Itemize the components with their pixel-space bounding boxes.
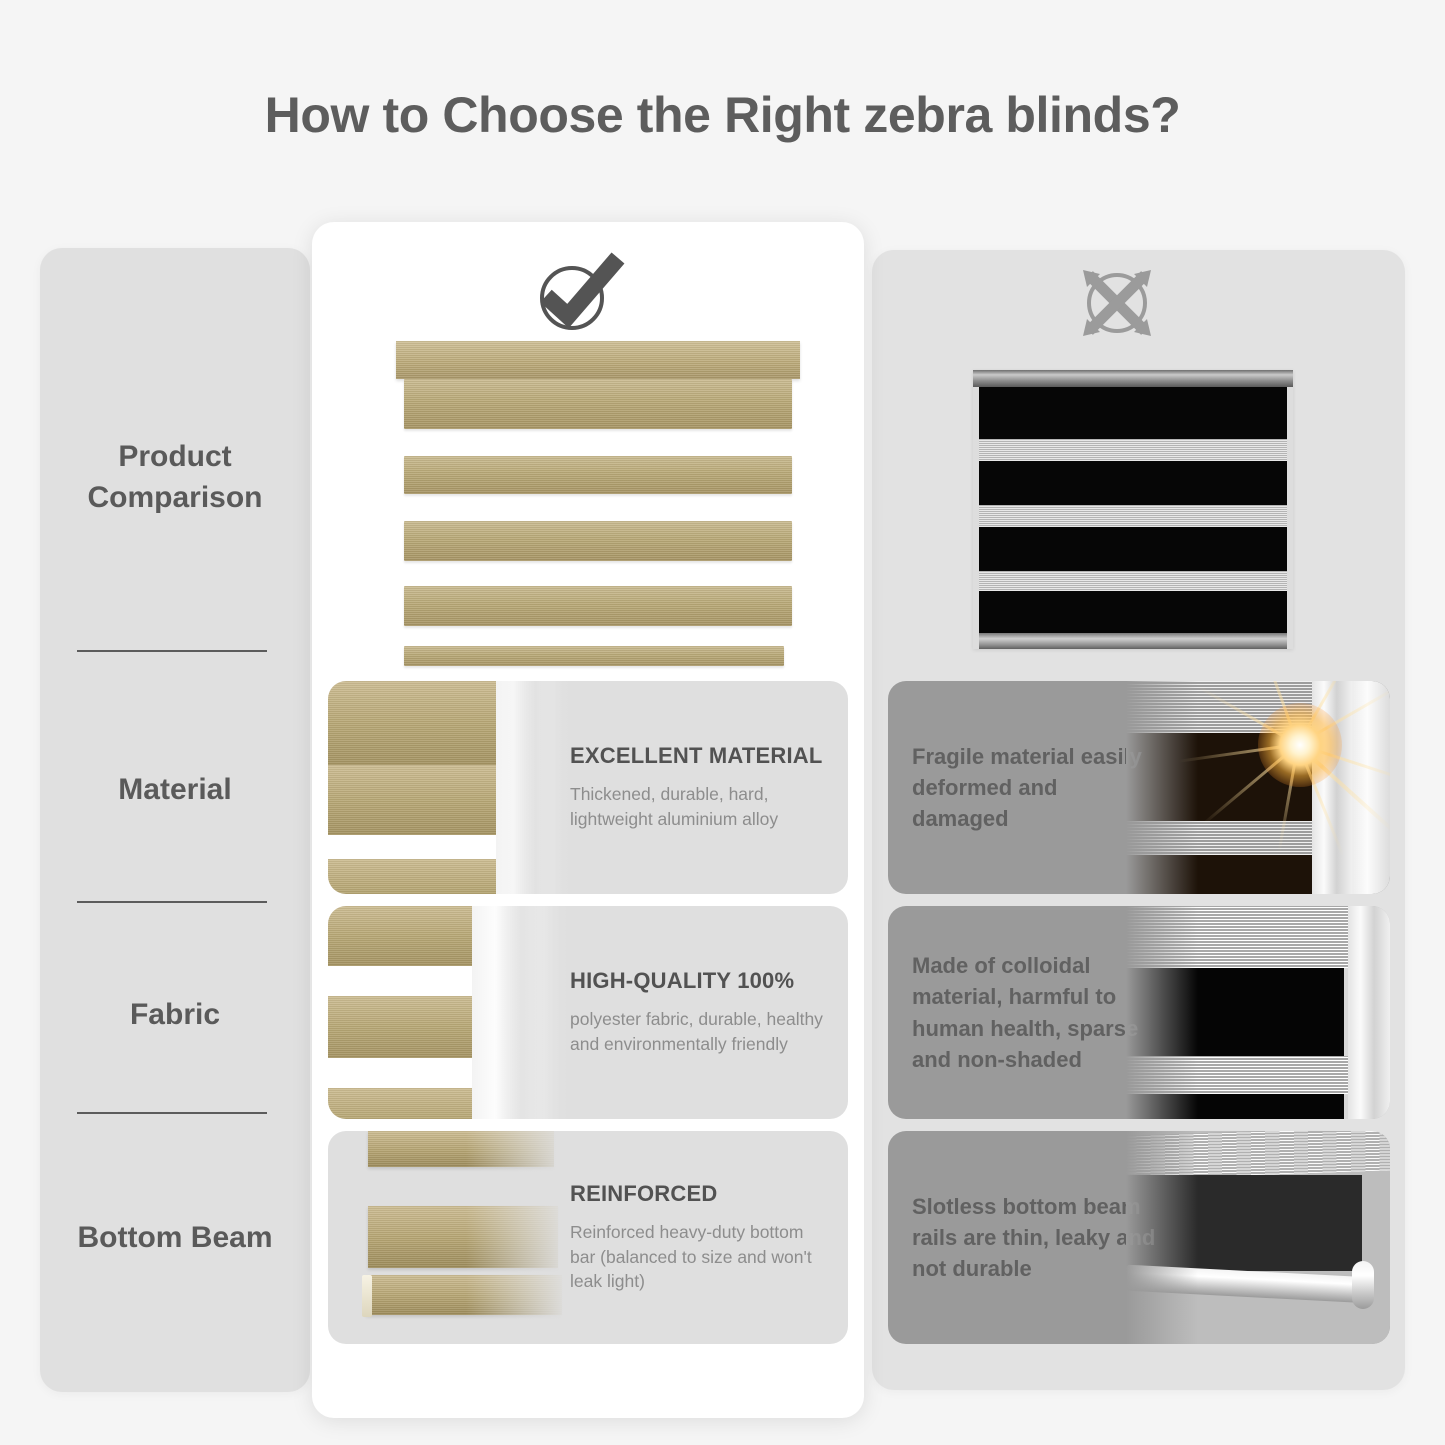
sun-glare-icon	[1258, 703, 1342, 787]
feature-text-good: REINFORCED Reinforced heavy-duty bottom …	[570, 1131, 848, 1344]
sidebar-row-bottom-beam: Bottom Beam	[40, 1148, 310, 1328]
feature-heading: Made of colloidal material, harmful to h…	[912, 950, 1156, 1075]
check-circle-icon	[532, 252, 628, 341]
feature-text-bad: Made of colloidal material, harmful to h…	[888, 906, 1156, 1119]
feature-text-good: EXCELLENT MATERIAL Thickened, durable, h…	[570, 681, 848, 894]
feature-heading: Slotless bottom beam rails are thin, lea…	[912, 1191, 1156, 1285]
feature-photo-bad	[1126, 1131, 1390, 1344]
feature-text-good: HIGH-QUALITY 100% polyester fabric, dura…	[570, 906, 848, 1119]
blind-band	[328, 906, 474, 966]
window-frame	[1352, 681, 1390, 894]
blind-bottom-rail	[979, 633, 1287, 649]
sidebar-label: Fabric	[130, 995, 220, 1036]
feature-photo-good	[328, 681, 576, 894]
blind-bottom-bar	[404, 646, 784, 666]
sidebar-label: Material	[118, 770, 231, 811]
feature-card-good-bottom-beam: REINFORCED Reinforced heavy-duty bottom …	[328, 1131, 848, 1344]
page-title: How to Choose the Right zebra blinds?	[0, 86, 1445, 144]
blind-photo	[328, 681, 498, 894]
feature-text-bad: Slotless bottom beam rails are thin, lea…	[888, 1131, 1156, 1344]
blind-headrail	[973, 370, 1293, 387]
blind-photo	[328, 906, 474, 1119]
feature-heading: Fragile material easily deformed and dam…	[912, 741, 1156, 835]
feature-body: Thickened, durable, hard, lightweight al…	[570, 782, 830, 832]
blind-body	[979, 387, 1287, 633]
sidebar-label: Bottom Beam	[77, 1218, 272, 1259]
blind-band	[328, 996, 474, 1058]
sidebar-divider	[77, 650, 267, 652]
blind-band-light	[979, 571, 1287, 591]
blind-band	[328, 859, 498, 894]
cross-circle-icon	[1078, 266, 1156, 345]
feature-card-bad-material: Fragile material easily deformed and dam…	[888, 681, 1390, 894]
feature-card-good-material: EXCELLENT MATERIAL Thickened, durable, h…	[328, 681, 848, 894]
blind-band-dark	[979, 387, 1287, 439]
sidebar-divider	[77, 1112, 267, 1114]
photo-fade	[466, 1131, 576, 1344]
sidebar-divider	[77, 901, 267, 903]
sidebar-row-material: Material	[40, 700, 310, 880]
photo-fade	[1126, 681, 1198, 894]
feature-photo-good	[328, 906, 576, 1119]
blind-headrail	[396, 341, 800, 379]
blind-band	[328, 765, 498, 835]
blind-band-light	[979, 505, 1287, 527]
blind-slat	[404, 521, 792, 561]
blind-band-dark	[979, 527, 1287, 571]
blind-band	[328, 681, 498, 765]
photo-fade	[496, 681, 576, 894]
feature-heading: EXCELLENT MATERIAL	[570, 743, 830, 769]
blind-slat	[404, 586, 792, 626]
feature-card-good-fabric: HIGH-QUALITY 100% polyester fabric, dura…	[328, 906, 848, 1119]
blind-band-light	[979, 439, 1287, 461]
feature-body: Reinforced heavy-duty bottom bar (balanc…	[570, 1220, 830, 1295]
feature-heading: HIGH-QUALITY 100%	[570, 968, 830, 994]
blind-band	[328, 1088, 474, 1119]
feature-photo-good	[328, 1131, 576, 1344]
feature-photo-bad	[1126, 681, 1390, 894]
blind-band-dark	[979, 591, 1287, 633]
blind-band-dark	[979, 461, 1287, 505]
infographic-page: How to Choose the Right zebra blinds? Pr…	[0, 0, 1445, 1445]
product-image-bad	[973, 370, 1293, 649]
sidebar-label: Product Comparison	[40, 437, 310, 519]
photo-fade	[1126, 1131, 1198, 1344]
product-image-good	[396, 341, 800, 666]
feature-card-bad-fabric: Made of colloidal material, harmful to h…	[888, 906, 1390, 1119]
bottom-rail-end-cap	[1352, 1261, 1374, 1309]
feature-text-bad: Fragile material easily deformed and dam…	[888, 681, 1156, 894]
bottom-bar-end-cap	[362, 1275, 372, 1317]
feature-photo-bad	[1126, 906, 1390, 1119]
photo-fade	[496, 906, 576, 1119]
photo-fade	[1126, 906, 1198, 1119]
feature-card-bad-bottom-beam: Slotless bottom beam rails are thin, lea…	[888, 1131, 1390, 1344]
blind-slat	[404, 379, 792, 429]
blind-slat	[404, 456, 792, 494]
feature-heading: REINFORCED	[570, 1181, 830, 1207]
sidebar-row-product-comparison: Product Comparison	[40, 368, 310, 588]
window-frame	[1348, 906, 1390, 1119]
sidebar-row-fabric: Fabric	[40, 925, 310, 1105]
feature-body: polyester fabric, durable, healthy and e…	[570, 1007, 830, 1057]
